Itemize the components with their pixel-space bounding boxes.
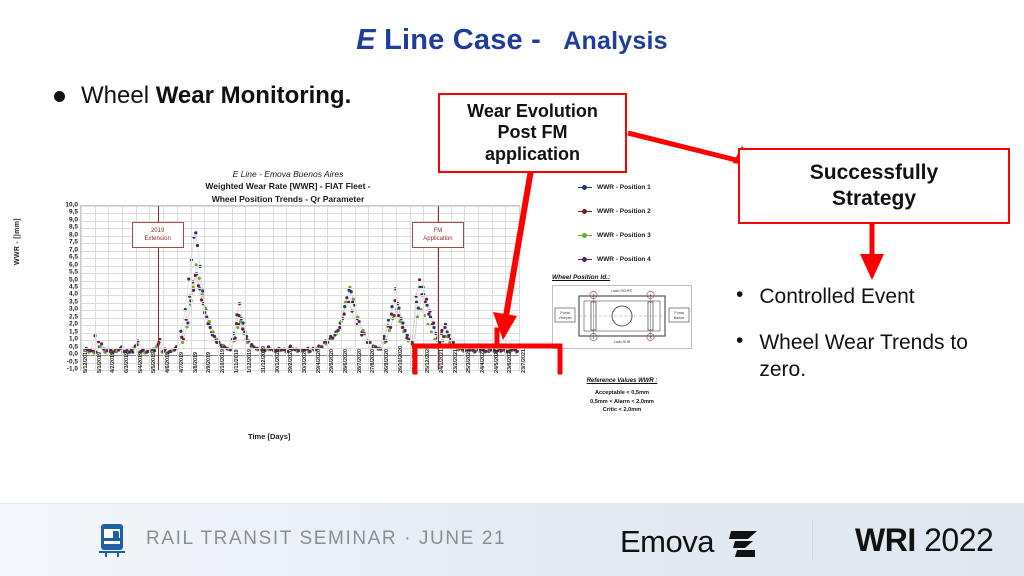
callout-strategy-line-0: Successfully xyxy=(810,160,938,186)
chart-title-line3: Wheel Position Trends - Qr Parameter xyxy=(138,193,438,205)
svg-text:Bartos: Bartos xyxy=(674,316,685,320)
x-tick-label: 4/7/2019 xyxy=(179,352,185,373)
emova-text: Emova xyxy=(620,524,714,560)
y-tick-label: 8,5 xyxy=(44,224,78,231)
list-item: • Wheel Wear Trends to zero. xyxy=(736,330,1016,383)
right-bullet-text-1: Wheel Wear Trends to zero. xyxy=(759,330,1016,383)
x-tick-label: 24/4/2021 xyxy=(480,349,486,373)
bullet-dot-icon xyxy=(54,91,65,102)
callout-successfully-strategy: Successfully Strategy xyxy=(738,148,1010,224)
y-tick-label: 6,0 xyxy=(44,261,78,268)
x-tick-label: 31/12/2019 xyxy=(261,346,267,373)
x-axis-ticks: 5/12/20185/1/20194/2/20196/3/20195/4/201… xyxy=(80,373,520,419)
y-tick-label: 2,5 xyxy=(44,313,78,320)
y-tick-label: 0,5 xyxy=(44,343,78,350)
y-axis-ticks: 10,09,59,08,58,07,57,06,56,05,55,04,54,0… xyxy=(40,205,78,371)
x-tick-label: 5/5/2019 xyxy=(151,352,157,373)
y-tick-label: 5,5 xyxy=(44,269,78,276)
chart-title-line2: Weighted Wear Rate [WWR] - FIAT Fleet - xyxy=(138,180,438,192)
train-icon xyxy=(96,522,128,563)
top-bullet: Wheel Wear Monitoring. xyxy=(54,82,351,110)
footer-seminar-text: RAIL TRANSIT SEMINAR · JUNE 21 xyxy=(146,528,506,550)
title-analysis: Analysis xyxy=(563,27,667,55)
wheel-position-heading: Wheel Position Id.: xyxy=(552,274,692,281)
y-tick-label: 3,0 xyxy=(44,306,78,313)
x-tick-label: 27/8/2020 xyxy=(370,349,376,373)
chart-legend: WWR - Position 1WWR - Position 2WWR - Po… xyxy=(578,184,708,280)
y-tick-label: 5,0 xyxy=(44,276,78,283)
x-tick-label: 6/3/2019 xyxy=(124,352,130,373)
list-item: • Controlled Event xyxy=(736,284,1016,310)
x-tick-label: 4/6/2019 xyxy=(165,352,171,373)
y-tick-label: 2,0 xyxy=(44,321,78,328)
legend-item: WWR - Position 2 xyxy=(578,208,708,215)
wri-logo: WRI 2022 xyxy=(855,522,993,559)
svg-text:Virreyes: Virreyes xyxy=(558,316,571,320)
slide-root: E Line Case - Analysis Wheel Wear Monito… xyxy=(0,0,1024,576)
legend-label: WWR - Position 4 xyxy=(597,256,651,263)
title-main: Line Case - xyxy=(376,24,549,56)
reference-values-block: Reference Values WWR : Acceptable < 0,5m… xyxy=(552,378,692,415)
top-bullet-bold: Wear Monitoring. xyxy=(156,82,352,109)
legend-label: WWR - Position 1 xyxy=(597,184,651,191)
callout-wear-evolution: Wear Evolution Post FM application xyxy=(438,93,627,173)
plot-area: 2019ExtensionFMApplication xyxy=(80,205,520,371)
x-tick-label: 25/11/2020 xyxy=(412,346,418,373)
reference-values-heading: Reference Values WWR : xyxy=(552,378,692,384)
x-tick-label: 23/2/2021 xyxy=(453,349,459,373)
legend-item: WWR - Position 1 xyxy=(578,184,708,191)
x-tick-label: 28/7/2020 xyxy=(357,349,363,373)
x-tick-label: 25/12/2020 xyxy=(425,346,431,373)
svg-text:Lado SCHFE: Lado SCHFE xyxy=(611,289,633,293)
x-tick-label: 3/8/2019 xyxy=(193,352,199,373)
bogie-diagram: 2 4 1 3 Punta Virreyes Punta Bartos Lado… xyxy=(552,285,692,349)
svg-text:Punta: Punta xyxy=(560,311,569,315)
x-tick-label: 2/10/2019 xyxy=(220,349,226,373)
reference-row-2: Critic < 2,0mm xyxy=(552,406,692,415)
callout-strategy-text: Successfully Strategy xyxy=(810,160,938,213)
x-tick-label: 30/3/2020 xyxy=(302,349,308,373)
legend-swatch xyxy=(578,259,592,260)
x-tick-label: 5/12/2018 xyxy=(83,349,89,373)
callout-strategy-line-1: Strategy xyxy=(810,186,938,212)
y-tick-label: 8,0 xyxy=(44,231,78,238)
title-e: E xyxy=(356,24,376,56)
y-tick-label: -0,5 xyxy=(44,358,78,365)
legend-swatch xyxy=(578,211,592,212)
bullet-icon: • xyxy=(736,284,743,310)
x-tick-label: 5/1/2019 xyxy=(97,352,103,373)
x-tick-label: 24/1/2021 xyxy=(439,349,445,373)
emova-mark-icon xyxy=(721,522,761,562)
y-tick-label: 3,5 xyxy=(44,298,78,305)
y-tick-label: 1,0 xyxy=(44,336,78,343)
annotation-box: FMApplication xyxy=(412,222,464,248)
x-tick-label: 24/5/2021 xyxy=(494,349,500,373)
y-tick-label: 9,5 xyxy=(44,209,78,216)
x-tick-label: 23/7/2021 xyxy=(521,349,527,373)
right-bullet-list: • Controlled Event • Wheel Wear Trends t… xyxy=(736,284,1016,403)
bogie-diagram-icon: 2 4 1 3 Punta Virreyes Punta Bartos Lado… xyxy=(553,286,691,346)
legend-swatch xyxy=(578,187,592,188)
y-tick-label: 1,5 xyxy=(44,328,78,335)
x-tick-label: 5/4/2019 xyxy=(138,352,144,373)
x-tick-label: 29/4/2020 xyxy=(316,349,322,373)
x-tick-label: 28/6/2020 xyxy=(343,349,349,373)
bullet-icon: • xyxy=(736,330,743,383)
x-tick-label: 23/6/2021 xyxy=(507,349,513,373)
x-tick-label: 25/3/2021 xyxy=(466,349,472,373)
reference-row-0: Acceptable < 0,5mm xyxy=(552,389,692,398)
emova-logo: Emova xyxy=(620,522,761,562)
y-tick-label: 4,0 xyxy=(44,291,78,298)
legend-label: WWR - Position 3 xyxy=(597,232,651,239)
footer-divider xyxy=(812,520,813,560)
x-tick-label: 1/11/2019 xyxy=(234,349,240,373)
svg-text:Lado SUR: Lado SUR xyxy=(614,340,631,344)
wheel-position-id-block: Wheel Position Id.: 2 4 1 3 xyxy=(552,274,692,349)
reference-row-1: 0,5mm < Alarm < 2,0mm xyxy=(552,398,692,407)
x-tick-label: 26/10/2020 xyxy=(398,346,404,373)
callout-wear-line-2: application xyxy=(467,144,598,165)
y-tick-label: 6,5 xyxy=(44,254,78,261)
wri-year: 2022 xyxy=(916,522,994,558)
callout-wear-line-1: Post FM xyxy=(467,122,598,143)
chart-title: E Line - Emova Buenos Aires Weighted Wea… xyxy=(138,168,438,205)
legend-item: WWR - Position 4 xyxy=(578,256,708,263)
legend-item: WWR - Position 3 xyxy=(578,232,708,239)
chart-title-line1: E Line - Emova Buenos Aires xyxy=(138,168,438,180)
y-tick-label: -1,0 xyxy=(44,366,78,373)
right-bullet-text-0: Controlled Event xyxy=(759,284,914,310)
top-bullet-plain: Wheel xyxy=(81,82,156,109)
y-tick-label: 10,0 xyxy=(44,202,78,209)
x-tick-label: 29/2/2020 xyxy=(288,349,294,373)
callout-wear-line-0: Wear Evolution xyxy=(467,101,598,122)
page-title: E Line Case - Analysis xyxy=(0,24,1024,57)
wri-text: WRI xyxy=(855,522,916,558)
y-tick-label: 9,0 xyxy=(44,216,78,223)
footer-bar: RAIL TRANSIT SEMINAR · JUNE 21 Emova WRI… xyxy=(0,503,1024,576)
x-tick-label: 26/9/2020 xyxy=(384,349,390,373)
y-tick-label: 7,0 xyxy=(44,246,78,253)
legend-swatch xyxy=(578,235,592,236)
callout-wear-evolution-text: Wear Evolution Post FM application xyxy=(467,101,598,165)
top-bullet-text: Wheel Wear Monitoring. xyxy=(81,82,351,110)
x-tick-label: 29/5/2020 xyxy=(329,349,335,373)
x-tick-label: 2/9/2019 xyxy=(206,352,212,373)
x-tick-label: 4/2/2019 xyxy=(110,352,116,373)
chart-container: E Line - Emova Buenos Aires Weighted Wea… xyxy=(18,160,543,470)
annotation-box: 2019Extension xyxy=(132,222,184,248)
y-tick-label: 4,5 xyxy=(44,284,78,291)
x-tick-label: 1/12/2019 xyxy=(247,349,253,373)
x-axis-label: Time [Days] xyxy=(248,432,290,441)
x-tick-label: 30/1/2020 xyxy=(275,349,281,373)
y-axis-label: WWR - [|mm] xyxy=(14,218,21,265)
y-tick-label: 7,5 xyxy=(44,239,78,246)
legend-label: WWR - Position 2 xyxy=(597,208,651,215)
svg-text:Punta: Punta xyxy=(674,311,683,315)
y-tick-label: 0,0 xyxy=(44,351,78,358)
